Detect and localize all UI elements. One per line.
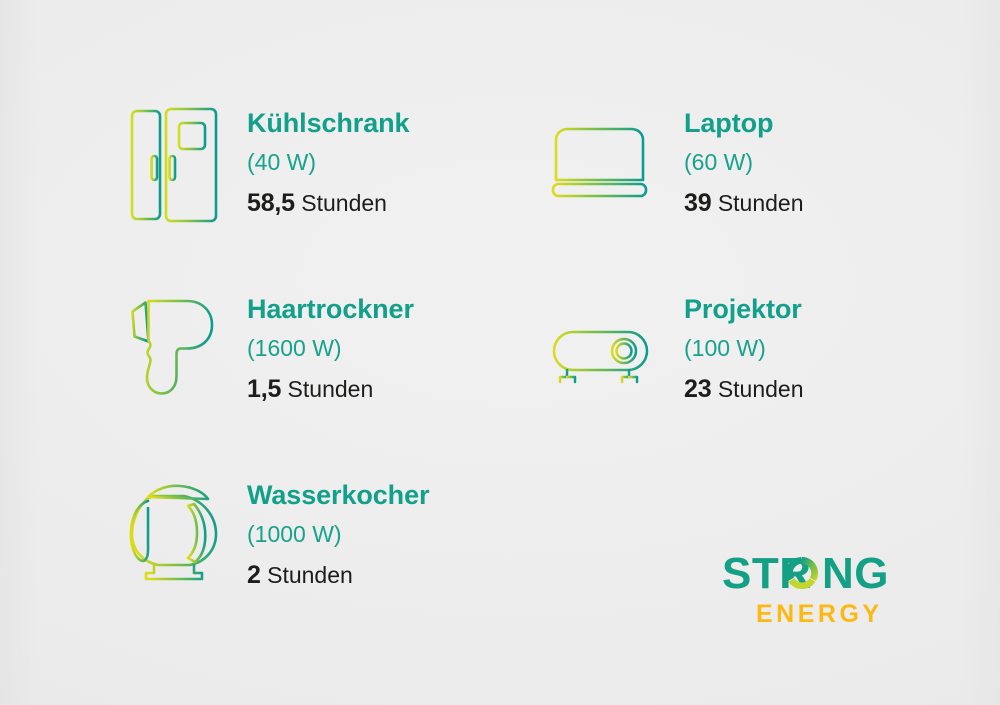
appliance-text-kettle: Wasserkocher (1000 W) 2 Stunden <box>247 478 429 588</box>
appliance-duration: 58,5 Stunden <box>247 191 409 216</box>
appliance-power: (100 W) <box>684 337 804 360</box>
appliance-item-projector: Projektor (100 W) 23 Stunden <box>549 292 804 402</box>
duration-value: 1,5 <box>247 375 281 403</box>
appliance-text-laptop: Laptop (60 W) 39 Stunden <box>684 106 804 216</box>
duration-value: 2 <box>247 561 261 589</box>
appliance-duration: 39 Stunden <box>684 191 804 216</box>
duration-unit: Stunden <box>301 190 387 216</box>
projector-icon-slot <box>549 292 655 388</box>
appliance-power: (60 W) <box>684 151 804 174</box>
appliance-title: Projektor <box>684 296 804 323</box>
logo-graphic: STR NG ENERGY <box>722 552 922 630</box>
logo-wordmark-part1: STR <box>722 549 812 598</box>
laptop-icon <box>551 124 653 200</box>
duration-unit: Stunden <box>288 376 374 402</box>
appliance-text-projector: Projektor (100 W) 23 Stunden <box>684 292 804 402</box>
duration-value: 23 <box>684 375 711 403</box>
appliance-duration: 1,5 Stunden <box>247 377 414 402</box>
appliance-title: Laptop <box>684 110 804 137</box>
duration-unit: Stunden <box>718 190 804 216</box>
appliance-item-laptop: Laptop (60 W) 39 Stunden <box>549 106 804 216</box>
strong-energy-logo: STR NG ENERGY <box>722 552 922 632</box>
logo-wordmark-part2: NG <box>822 549 889 598</box>
kettle-icon <box>124 478 224 582</box>
duration-value: 58,5 <box>247 189 295 217</box>
appliance-duration: 23 Stunden <box>684 377 804 402</box>
appliance-title: Wasserkocher <box>247 482 429 509</box>
appliance-duration: 2 Stunden <box>247 563 429 588</box>
appliance-item-kettle: Wasserkocher (1000 W) 2 Stunden <box>124 478 429 588</box>
appliance-power: (40 W) <box>247 151 409 174</box>
appliance-text-hairdryer: Haartrockner (1600 W) 1,5 Stunden <box>247 292 414 402</box>
infographic-canvas: Kühlschrank (40 W) 58,5 Stunden <box>0 0 1000 705</box>
appliance-item-fridge: Kühlschrank (40 W) 58,5 Stunden <box>124 106 409 224</box>
logo-tagline: ENERGY <box>756 600 883 628</box>
appliance-power: (1000 W) <box>247 523 429 546</box>
kettle-icon-slot <box>124 478 224 582</box>
appliance-item-hairdryer: Haartrockner (1600 W) 1,5 Stunden <box>124 292 414 402</box>
appliance-title: Kühlschrank <box>247 110 409 137</box>
appliance-title: Haartrockner <box>247 296 414 323</box>
duration-value: 39 <box>684 189 711 217</box>
refrigerator-icon <box>128 106 220 224</box>
projector-icon <box>551 326 653 388</box>
laptop-icon-slot <box>549 106 655 200</box>
refrigerator-icon-slot <box>124 106 224 224</box>
appliance-power: (1600 W) <box>247 337 414 360</box>
duration-unit: Stunden <box>718 376 804 402</box>
hairdryer-icon-slot <box>124 292 224 398</box>
appliance-text-fridge: Kühlschrank (40 W) 58,5 Stunden <box>247 106 409 216</box>
hairdryer-icon <box>126 292 222 398</box>
duration-unit: Stunden <box>267 562 353 588</box>
